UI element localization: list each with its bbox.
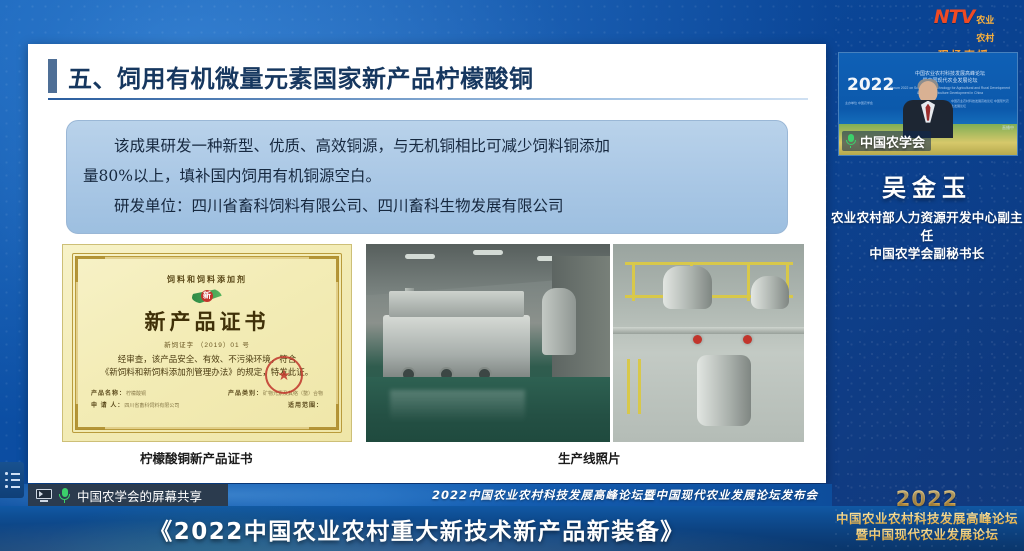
slide-title-row: 五、饲用有机微量元素国家新产品柠檬酸铜: [48, 56, 812, 96]
backdrop-side-right: 中国农业农村科技发展高峰论坛 中国现代农业发展论坛: [951, 99, 1011, 109]
emblem-year: 2022: [830, 487, 1024, 511]
microphone-icon: [58, 488, 71, 503]
field-applicant-value: 四川省畜科饲料有限公司: [124, 403, 179, 409]
caption-certificate: 柠檬酸铜新产品证书: [140, 448, 253, 467]
list-icon-row-2: [5, 479, 24, 482]
participants-panel-toggle[interactable]: [0, 462, 24, 498]
certificate-image: 饲料和饲料添加剂 新 新产品证书 新饲证字 （2019）01 号 经审查，该产品…: [62, 244, 352, 442]
list-icon-row-1: [5, 472, 24, 475]
certificate-header: 饲料和饲料添加剂: [81, 274, 333, 285]
speaker-title-1: 农业农村部人力资源开发中心副主任: [830, 209, 1024, 245]
title-accent-bar: [48, 59, 57, 93]
new-product-badge-icon: 新: [192, 288, 222, 304]
shared-slide[interactable]: 五、饲用有机微量元素国家新产品柠檬酸铜 该成果研发一种新型、优质、高效铜源，与无…: [28, 44, 826, 483]
ntv-logo-cn-bottom: 农村: [976, 34, 994, 43]
ntv-logo-letters: NTV: [934, 6, 975, 28]
list-icon-row-3: [5, 485, 24, 488]
speaker-video-tile[interactable]: 2022 中国农业农村科技发展高峰论坛 暨中国现代农业发展论坛 Forum 20…: [838, 52, 1018, 156]
screen-share-indicator[interactable]: 中国农学会的屏幕共享: [28, 484, 228, 506]
screen-share-icon: [36, 489, 52, 502]
video-microphone-icon: [845, 134, 856, 148]
badge-char: 新: [201, 290, 213, 302]
speaker-figure: [902, 81, 954, 137]
forum-emblem: 2022 中国农业农村科技发展高峰论坛 暨中国现代农业发展论坛: [830, 487, 1024, 543]
speaker-info: 吴金玉 农业农村部人力资源开发中心副主任 中国农学会副秘书长: [830, 168, 1024, 263]
screen-share-label: 中国农学会的屏幕共享: [77, 486, 202, 505]
production-line-photos: [366, 244, 804, 442]
video-participant-name: 中国农学会: [860, 132, 925, 151]
field-product-label: 产品名称：: [91, 391, 126, 397]
image-captions: 柠檬酸铜新产品证书 生产线照片: [62, 448, 804, 470]
certificate-fields: 产品名称：柠檬酸铜 产品类别：矿物元素及其络（螯）合物 申 请 人：四川省畜科饲…: [81, 388, 333, 412]
backdrop-year: 2022: [847, 75, 894, 95]
emblem-line-1: 中国农业农村科技发展高峰论坛: [830, 511, 1024, 527]
callout-line-1: 该成果研发一种新型、优质、高效铜源，与无机铜相比可减少饲料铜添加: [83, 131, 771, 161]
video-name-bar: 中国农学会: [842, 131, 931, 151]
emblem-line-2: 暨中国现代农业发展论坛: [830, 527, 1024, 543]
field-type-value: 矿物元素及其络（螯）合物: [263, 391, 323, 397]
ntv-logo-cn-top: 农业: [976, 16, 994, 25]
speaker-title-2: 中国农学会副秘书长: [830, 245, 1024, 263]
factory-photo-left: [366, 244, 610, 442]
field-applicant-label: 申 请 人：: [91, 403, 124, 409]
ribbon-text: 2022中国农业农村科技发展高峰论坛暨中国现代农业发展论坛发布会: [432, 484, 818, 506]
field-product-value: 柠檬酸铜: [126, 391, 146, 397]
video-corner-tag: 直播中: [1002, 125, 1014, 131]
official-seal-icon: ★: [265, 356, 303, 394]
field-type-label: 产品类别：: [228, 391, 263, 397]
backdrop-forum-line-1: 中国农业农村科技发展高峰论坛: [889, 71, 1011, 78]
certificate-main-title: 新产品证书: [81, 306, 333, 336]
title-divider: [48, 98, 808, 100]
field-scope-label: 适用范围：: [288, 403, 323, 409]
speaker-name: 吴金玉: [830, 168, 1024, 203]
broadcast-sidebar: NTV 农业 农村 现场直播 2022 中国农业农村科技发展高峰论坛 暨中国现代…: [830, 0, 1024, 551]
certificate-content: 饲料和饲料添加剂 新 新产品证书 新饲证字 （2019）01 号 经审查，该产品…: [81, 274, 333, 412]
image-row: 饲料和饲料添加剂 新 新产品证书 新饲证字 （2019）01 号 经审查，该产品…: [62, 244, 804, 444]
callout-line-2: 量80%以上，填补国内饲用有机铜源空白。: [83, 161, 771, 191]
certificate-number: 新饲证字 （2019）01 号: [81, 339, 333, 349]
factory-photo-right: [613, 244, 804, 442]
backdrop-side-left: 主办单位 中国农学会: [845, 101, 891, 106]
callout-line-3: 研发单位：四川省畜科饲料有限公司、四川畜科生物发展有限公司: [83, 191, 771, 221]
summary-callout: 该成果研发一种新型、优质、高效铜源，与无机铜相比可减少饲料铜添加 量80%以上，…: [66, 120, 788, 234]
page-title: 五、饲用有机微量元素国家新产品柠檬酸铜: [68, 59, 534, 94]
caption-production-line: 生产线照片: [558, 448, 621, 467]
